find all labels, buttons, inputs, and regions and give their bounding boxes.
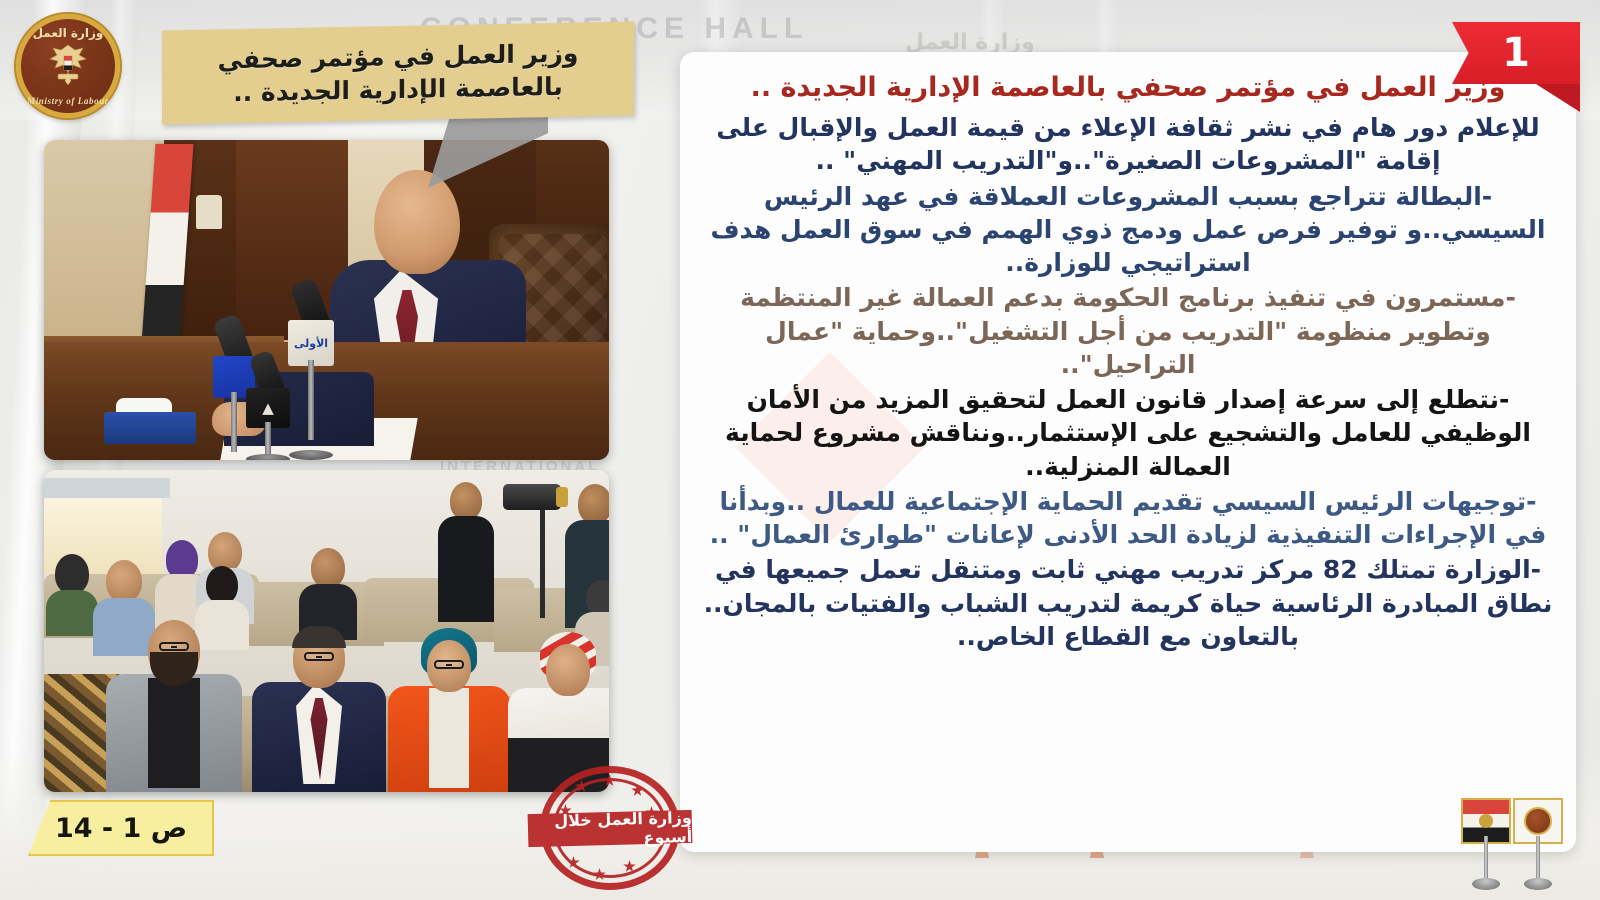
article-headline: وزير العمل في مؤتمر صحفي بالعاصمة الإدار… <box>702 70 1554 105</box>
photo-lamp <box>196 195 222 229</box>
ministry-of-labour-seal-logo: وزارة العمل Ministry of Labour <box>16 14 120 118</box>
desk-flags <box>1434 792 1580 892</box>
egypt-flag-icon <box>1456 792 1516 892</box>
article-panel: وزير العمل في مؤتمر صحفي بالعاصمة الإدار… <box>680 52 1576 852</box>
stamp-text-band: وزارة العمل خلال أسبوع <box>528 810 693 847</box>
ministry-flag-icon <box>1508 798 1568 892</box>
photo-attendee <box>46 554 98 636</box>
article-paragraph: -نتطلع إلى سرعة إصدار قانون العمل لتحقيق… <box>702 383 1554 483</box>
article-paragraph: للإعلام دور هام في نشر ثقافة الإعلاء من … <box>702 111 1554 178</box>
photo-attendee-front <box>252 628 386 792</box>
photo-attendee-front <box>388 630 510 792</box>
ministry-weekly-stamp: وزارة العمل خلال أسبوع <box>523 768 697 892</box>
page-label-text: ص 1 - 14 <box>55 813 187 844</box>
stamp-text: وزارة العمل خلال أسبوع <box>528 807 693 849</box>
page-number-ribbon: 1 <box>1452 22 1580 84</box>
photo-press-crew <box>436 482 496 622</box>
photo-attendee-front <box>106 620 242 792</box>
article-paragraph-list: للإعلام دور هام في نشر ثقافة الإعلاء من … <box>702 111 1554 653</box>
callout-headline-text: وزير العمل في مؤتمر صحفي بالعاصمة الإدار… <box>162 35 634 110</box>
article-content: وزير العمل في مؤتمر صحفي بالعاصمة الإدار… <box>702 70 1554 653</box>
page-number-badge-text: 1 <box>1502 33 1530 73</box>
slide-canvas: CONFERENCE HALL وزارة العمل INTERNATIONA… <box>0 0 1600 900</box>
page-label-tag: ص 1 - 14 <box>28 800 214 856</box>
article-paragraph: -مستمرون في تنفيذ برنامج الحكومة بدعم ال… <box>702 281 1554 381</box>
minister-press-conference-photo[interactable] <box>44 140 609 460</box>
photo-camera-lens <box>503 484 561 510</box>
photo-window-blind <box>44 478 170 498</box>
article-paragraph: -الوزارة تمتلك 82 مركز تدريب مهني ثابت و… <box>702 553 1554 653</box>
seal-arabic-label: وزارة العمل <box>21 26 115 40</box>
article-paragraph: -توجيهات الرئيس السيسي تقديم الحماية الإ… <box>702 485 1554 552</box>
photo-tissue-box <box>104 412 196 444</box>
photo-minister-head <box>374 170 460 274</box>
audience-auditorium-photo[interactable] <box>44 470 609 792</box>
photo-microphone <box>240 352 296 460</box>
article-paragraph: -البطالة تتراجع بسبب المشروعات العملاقة … <box>702 180 1554 280</box>
seal-english-label: Ministry of Labour <box>21 96 115 106</box>
eagle-emblem-icon <box>45 41 91 89</box>
